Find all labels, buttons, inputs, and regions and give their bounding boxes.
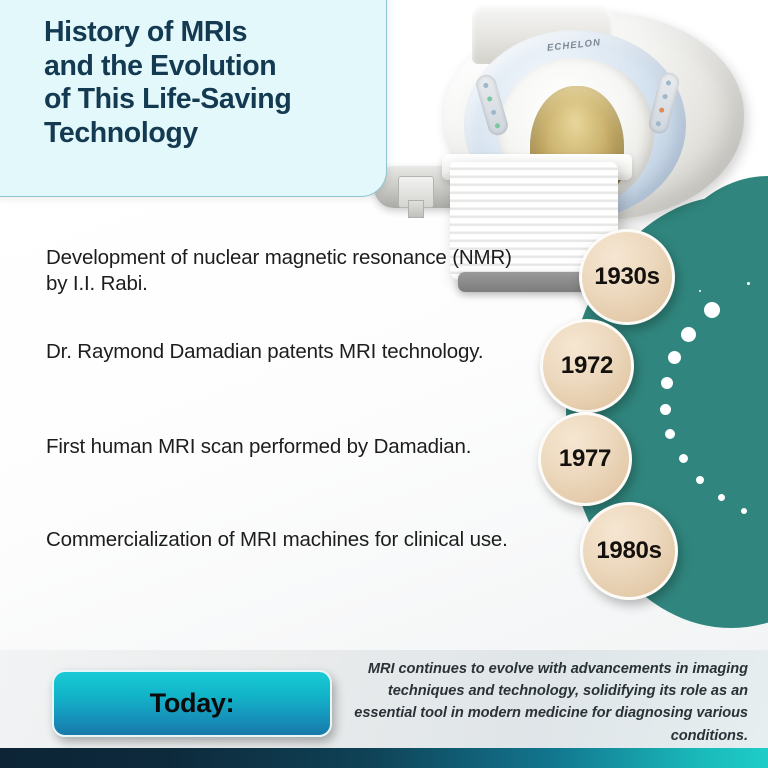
dot-decoration (668, 351, 681, 364)
page-title: History of MRIs and the Evolution of Thi… (44, 16, 374, 151)
year-badge: 1972 (540, 319, 634, 413)
title-panel: History of MRIs and the Evolution of Thi… (0, 0, 387, 197)
today-button[interactable]: Today: (52, 670, 332, 737)
dot-decoration (660, 404, 671, 415)
mri-led-indicator (665, 80, 671, 86)
timeline-entry-text: First human MRI scan performed by Damadi… (46, 434, 516, 460)
infographic-canvas: ECHELON History of MRIs and the Evolutio… (0, 0, 768, 768)
mri-led-indicator (662, 94, 668, 100)
mri-led-indicator (490, 109, 496, 115)
mri-coil-stem (408, 200, 424, 218)
year-badge: 1930s (579, 229, 675, 325)
dot-decoration (696, 476, 704, 484)
mri-led-indicator (659, 107, 665, 113)
dot-decoration (679, 454, 688, 463)
dot-decoration (665, 429, 675, 439)
mri-led-indicator (494, 123, 500, 129)
dot-decoration (741, 508, 747, 514)
dot-decoration (718, 494, 725, 501)
dot-decoration (661, 377, 673, 389)
year-badge: 1980s (580, 502, 678, 600)
year-badge: 1977 (538, 412, 632, 506)
mri-led-indicator (487, 96, 493, 102)
timeline-entry-text: Commercialization of MRI machines for cl… (46, 527, 516, 553)
footer-summary-text: MRI continues to evolve with advancement… (352, 658, 748, 747)
mri-led-indicator (483, 82, 489, 88)
dot-decoration (681, 327, 696, 342)
timeline-entry-text: Development of nuclear magnetic resonanc… (46, 245, 516, 296)
timeline-entry-text: Dr. Raymond Damadian patents MRI technol… (46, 339, 516, 365)
mri-led-indicator (655, 121, 661, 127)
footer-accent-strip (0, 748, 768, 768)
